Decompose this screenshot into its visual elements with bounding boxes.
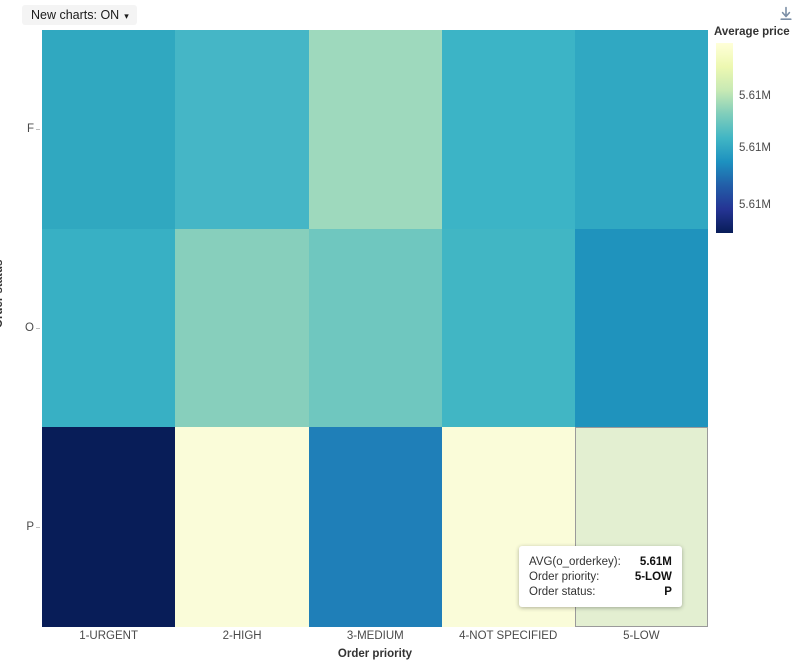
heatmap-cell[interactable]	[575, 229, 708, 427]
heatmap-cell[interactable]	[309, 30, 442, 229]
heatmap-cell[interactable]	[442, 229, 575, 427]
tooltip-row: Order status:P	[529, 584, 672, 599]
tooltip-label: AVG(o_orderkey):	[529, 554, 635, 569]
legend-tick-label: 5.61M	[739, 199, 771, 211]
tooltip-label: Order status:	[529, 584, 635, 599]
y-axis-title: Order status	[0, 260, 5, 328]
x-axis-tick-5-low: 5-LOW	[575, 630, 708, 642]
tooltip-value: P	[635, 584, 672, 599]
heatmap-cell[interactable]	[309, 229, 442, 427]
heatmap-cell[interactable]	[309, 427, 442, 627]
legend-bar-wrap: 5.61M5.61M5.61M	[714, 43, 800, 233]
tooltip-row: Order priority:5-LOW	[529, 569, 672, 584]
tooltip-table: AVG(o_orderkey):5.61MOrder priority:5-LO…	[529, 554, 672, 599]
heatmap-cell[interactable]	[42, 30, 175, 229]
download-icon[interactable]	[778, 6, 794, 22]
tooltip-row: AVG(o_orderkey):5.61M	[529, 554, 672, 569]
heatmap-plot[interactable]	[42, 30, 708, 627]
heatmap-cell[interactable]	[175, 427, 309, 627]
heatmap-cell[interactable]	[42, 229, 175, 427]
heatmap-cell[interactable]	[575, 30, 708, 229]
tooltip: AVG(o_orderkey):5.61MOrder priority:5-LO…	[519, 546, 682, 607]
heatmap-cell[interactable]	[175, 30, 309, 229]
new-charts-toggle[interactable]: New charts: ON ▾	[22, 5, 137, 25]
legend-tick-label: 5.61M	[739, 142, 771, 154]
x-axis-tick-4-not-specified: 4-NOT SPECIFIED	[442, 630, 575, 642]
legend-title: Average price	[714, 26, 800, 38]
y-axis-tick-labels: FOP	[0, 30, 42, 627]
legend-gradient-bar	[716, 43, 733, 233]
heatmap-cell[interactable]	[175, 229, 309, 427]
heatmap-row	[42, 229, 708, 427]
y-axis-tick-p: P	[26, 521, 34, 533]
tooltip-value: 5.61M	[635, 554, 672, 569]
y-axis-tick-o: O	[25, 322, 34, 334]
x-axis-tick-2-high: 2-HIGH	[175, 630, 309, 642]
x-axis-tick-labels: 1-URGENT2-HIGH3-MEDIUM4-NOT SPECIFIED5-L…	[42, 630, 708, 642]
new-charts-toggle-label: New charts: ON	[31, 8, 119, 22]
chevron-down-icon: ▾	[124, 12, 129, 21]
y-axis-tick-f: F	[27, 123, 34, 135]
color-legend: Average price 5.61M5.61M5.61M	[714, 26, 800, 233]
heatmap-cell[interactable]	[442, 30, 575, 229]
tooltip-label: Order priority:	[529, 569, 635, 584]
heatmap-row	[42, 30, 708, 229]
x-axis-tick-3-medium: 3-MEDIUM	[309, 630, 442, 642]
legend-tick-label: 5.61M	[739, 90, 771, 102]
x-axis-title: Order priority	[42, 648, 708, 660]
heatmap-cell[interactable]	[42, 427, 175, 627]
tooltip-value: 5-LOW	[635, 569, 672, 584]
x-axis-tick-1-urgent: 1-URGENT	[42, 630, 175, 642]
